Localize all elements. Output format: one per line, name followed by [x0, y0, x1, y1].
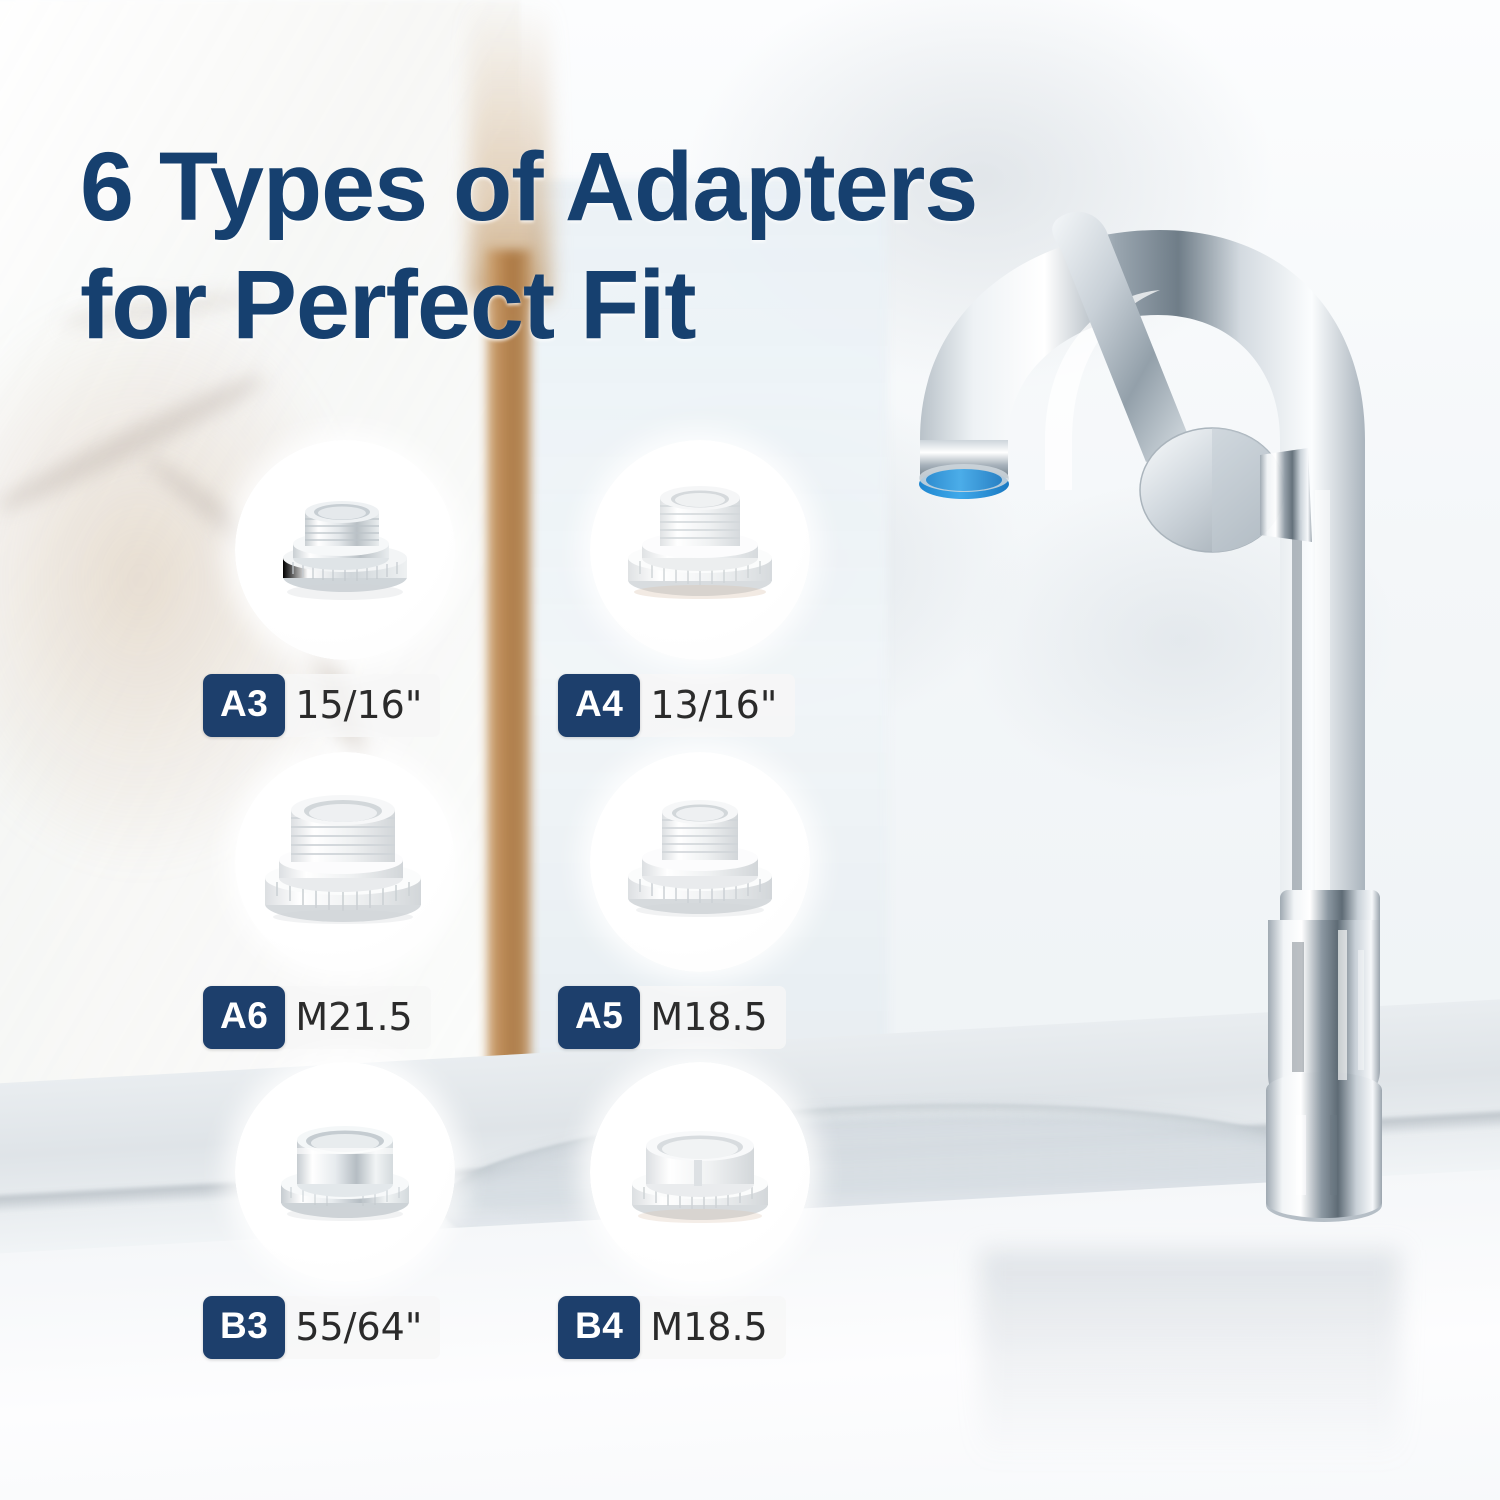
adapter-card-a3[interactable]: A3 15/16" — [195, 440, 495, 737]
adapter-size-a3: 15/16" — [279, 674, 440, 737]
adapter-card-b4[interactable]: B4 M18.5 — [550, 1062, 850, 1359]
adapter-thumb-a4 — [590, 440, 810, 660]
faucet-adapter-chrome-ring-icon — [235, 1062, 455, 1282]
adapter-code-b3: B3 — [203, 1296, 285, 1359]
adapter-thumb-a6 — [235, 752, 455, 972]
product-infographic: 6 Types of Adapters for Perfect Fit — [0, 0, 1500, 1500]
adapter-tag-a5: A5 M18.5 — [558, 986, 786, 1049]
adapter-card-a4[interactable]: A4 13/16" — [550, 440, 850, 737]
adapter-thumb-a3 — [235, 440, 455, 660]
adapter-grid: A3 15/16" — [0, 0, 1500, 1500]
faucet-adapter-chrome-threaded-icon — [235, 440, 455, 660]
adapter-tag-a4: A4 13/16" — [558, 674, 795, 737]
adapter-size-a5: M18.5 — [634, 986, 785, 1049]
adapter-thumb-b4 — [590, 1062, 810, 1282]
faucet-adapter-white-threaded-icon — [590, 440, 810, 660]
adapter-thumb-a5 — [590, 752, 810, 972]
adapter-size-a4: 13/16" — [634, 674, 795, 737]
adapter-tag-b3: B3 55/64" — [203, 1296, 440, 1359]
adapter-tag-a6: A6 M21.5 — [203, 986, 431, 1049]
adapter-size-b3: 55/64" — [279, 1296, 440, 1359]
adapter-size-b4: M18.5 — [634, 1296, 785, 1359]
faucet-adapter-white-narrow-thread-icon — [590, 752, 810, 972]
faucet-adapter-white-wide-thread-icon — [235, 752, 455, 972]
adapter-thumb-b3 — [235, 1062, 455, 1282]
adapter-code-a5: A5 — [558, 986, 640, 1049]
adapter-code-b4: B4 — [558, 1296, 640, 1359]
adapter-card-a6[interactable]: A6 M21.5 — [195, 752, 495, 1049]
adapter-size-a6: M21.5 — [279, 986, 430, 1049]
adapter-code-a3: A3 — [203, 674, 285, 737]
adapter-code-a4: A4 — [558, 674, 640, 737]
adapter-tag-b4: B4 M18.5 — [558, 1296, 786, 1359]
adapter-card-b3[interactable]: B3 55/64" — [195, 1062, 495, 1359]
faucet-adapter-white-ring-icon — [590, 1062, 810, 1282]
adapter-card-a5[interactable]: A5 M18.5 — [550, 752, 850, 1049]
adapter-tag-a3: A3 15/16" — [203, 674, 440, 737]
adapter-code-a6: A6 — [203, 986, 285, 1049]
